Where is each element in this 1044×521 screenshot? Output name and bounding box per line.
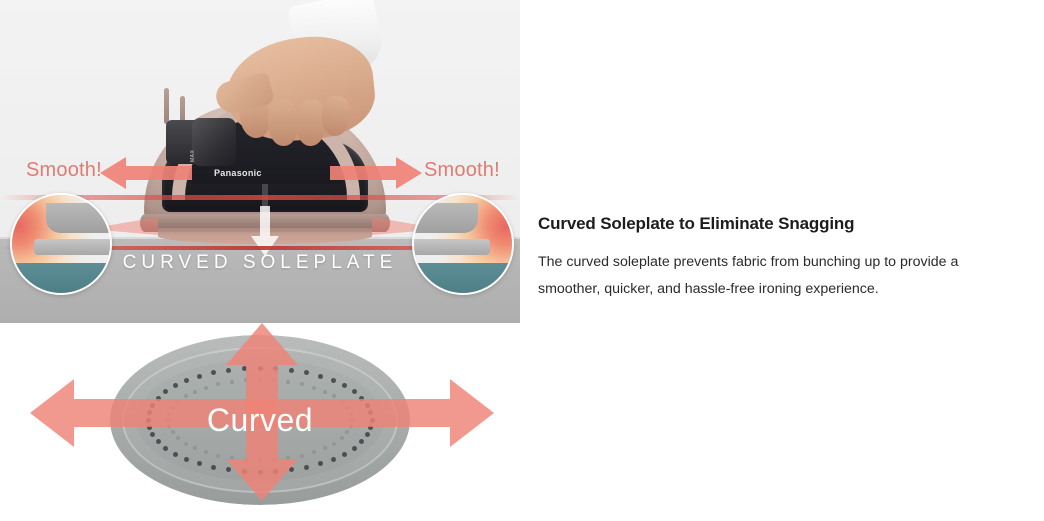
feature-description: The curved soleplate prevents fabric fro…: [538, 249, 1008, 303]
magnifier-right-content: [414, 195, 512, 293]
hand-holding-iron: [216, 0, 384, 172]
soleplate-diagram-image: Curved: [0, 323, 520, 521]
expansion-arrows-icon: [12, 323, 512, 507]
arrow-left-icon: [100, 155, 192, 191]
magnifier-left-content: [12, 195, 110, 293]
feature-section: MAX Panasonic: [0, 0, 1044, 521]
soleplate-edge-top-left: [46, 203, 112, 233]
hero-product-image: MAX Panasonic: [0, 0, 520, 323]
magnifier-circle-right-icon: [412, 193, 514, 295]
smooth-label-right: Smooth!: [424, 159, 500, 182]
feature-text-column: Curved Soleplate to Eliminate Snagging T…: [538, 213, 1016, 303]
iron-spout-left: [164, 88, 169, 124]
arrow-right-icon: [330, 155, 422, 191]
soleplate-edge-top-right: [412, 203, 478, 233]
magnifier-circle-left-icon: [10, 193, 112, 295]
arrow-down-icon: [250, 206, 280, 258]
feature-title: Curved Soleplate to Eliminate Snagging: [538, 213, 1016, 235]
smooth-label-left: Smooth!: [26, 159, 102, 182]
curved-soleplate-caption: CURVED SOLEPLATE: [0, 252, 520, 274]
